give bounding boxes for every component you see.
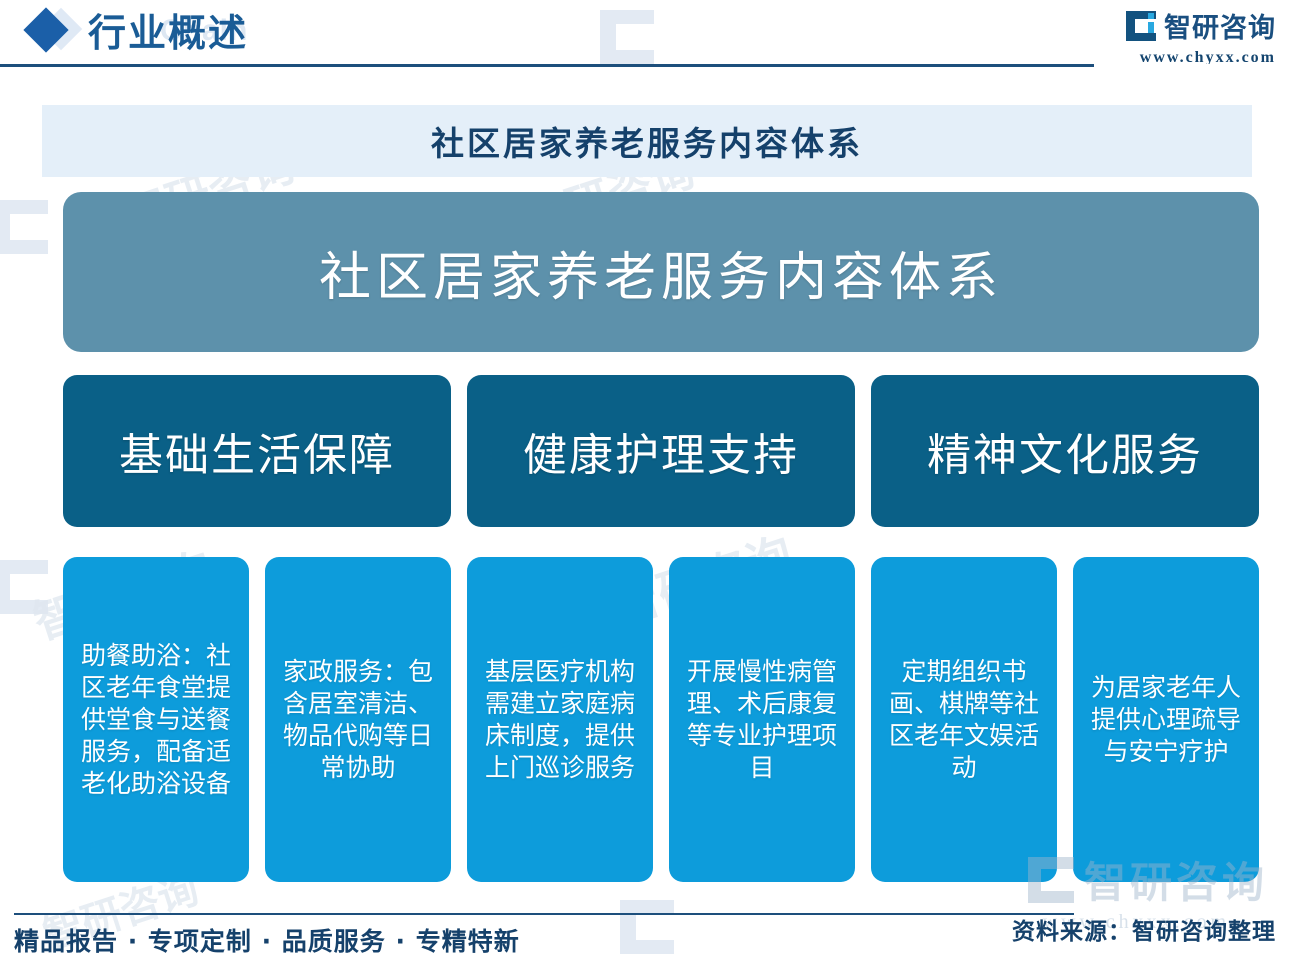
diagram-detail-text: 基层医疗机构需建立家庭病床制度，提供上门巡诊服务 (475, 656, 645, 784)
diagram-detail-text: 助餐助浴：社区老年食堂提供堂食与送餐服务，配备适老化助浴设备 (71, 640, 241, 800)
diagram-detail-node: 基层医疗机构需建立家庭病床制度，提供上门巡诊服务 (467, 557, 653, 882)
diagram-detail-node: 开展慢性病管理、术后康复等专业护理项目 (669, 557, 855, 882)
diagram-detail-node: 定期组织书画、棋牌等社区老年文娱活动 (871, 557, 1057, 882)
diagram-category-label: 基础生活保障 (119, 419, 395, 483)
chart-title: 社区居家养老服务内容体系 (431, 117, 863, 165)
footer-tagline: 精品报告 · 专项定制 · 品质服务 · 专精特新 (14, 922, 520, 958)
page-title: 行业概述 (88, 2, 248, 57)
diagram-detail-row: 助餐助浴：社区老年食堂提供堂食与送餐服务，配备适老化助浴设备 家政服务：包含居室… (63, 557, 1259, 882)
diagram-root-label: 社区居家养老服务内容体系 (319, 235, 1003, 310)
diagram-detail-text: 定期组织书画、棋牌等社区老年文娱活动 (879, 656, 1049, 784)
page-header: Chain 行业概述 智研咨询 www.chyxx.com (0, 0, 1294, 66)
diagram-detail-text: 开展慢性病管理、术后康复等专业护理项目 (677, 656, 847, 784)
watermark-logo (0, 560, 48, 619)
diagram-category-node: 健康护理支持 (467, 375, 855, 527)
brand-logo-icon (1126, 11, 1156, 41)
watermark-logo (620, 900, 674, 959)
diagram-detail-text: 为居家老年人提供心理疏导与安宁疗护 (1081, 672, 1251, 768)
diagram-category-row: 基础生活保障 健康护理支持 精神文化服务 (63, 375, 1259, 527)
diagram-detail-text: 家政服务：包含居室清洁、物品代购等日常协助 (273, 656, 443, 784)
diagram-detail-node: 为居家老年人提供心理疏导与安宁疗护 (1073, 557, 1259, 882)
diagram-detail-node: 助餐助浴：社区老年食堂提供堂食与送餐服务，配备适老化助浴设备 (63, 557, 249, 882)
brand-row: 智研咨询 (1126, 6, 1276, 45)
diagram-category-label: 精神文化服务 (927, 419, 1203, 483)
diagram-root-node: 社区居家养老服务内容体系 (63, 192, 1259, 352)
brand-block: 智研咨询 www.chyxx.com (1126, 6, 1276, 67)
diagram-category-label: 健康护理支持 (523, 419, 799, 483)
diagram-category-node: 基础生活保障 (63, 375, 451, 527)
chart-title-band: 社区居家养老服务内容体系 (42, 105, 1252, 177)
brand-name: 智研咨询 (1164, 6, 1276, 45)
footer-divider (14, 913, 1074, 915)
watermark-logo (0, 200, 48, 259)
diagram-category-node: 精神文化服务 (871, 375, 1259, 527)
header-divider-gap (1094, 64, 1294, 67)
footer-source: 资料来源：智研咨询整理 (1012, 912, 1276, 946)
diagram-detail-node: 家政服务：包含居室清洁、物品代购等日常协助 (265, 557, 451, 882)
diamond-icon (30, 11, 72, 53)
